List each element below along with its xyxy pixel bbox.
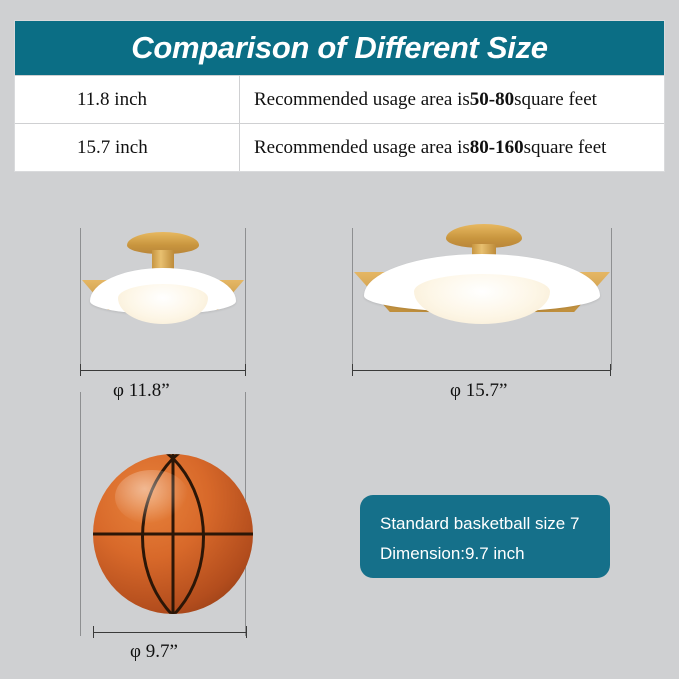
- lamp-small-illustration: [80, 228, 246, 338]
- dimension-tick-left-large: [352, 364, 353, 376]
- product-size-diagram: φ 11.8” φ 15.7” φ 9.7” Standard basketba…: [0, 0, 679, 679]
- dimension-label-large-lamp: φ 15.7”: [450, 380, 507, 402]
- lamp-large-illustration: [352, 222, 612, 342]
- lamp-large-diffuser: [414, 274, 550, 324]
- dimension-label-small-lamp: φ 11.8”: [113, 380, 170, 402]
- dimension-tick-right-large: [610, 364, 611, 376]
- dimension-line-large: [352, 370, 611, 371]
- callout-line-1: Standard basketball size 7: [380, 509, 590, 539]
- guide-line-left-ball: [80, 392, 81, 636]
- dimension-tick-right-small: [245, 364, 246, 376]
- dimension-line-ball: [93, 632, 247, 633]
- dimension-tick-right-ball: [246, 626, 247, 638]
- dimension-tick-left-small: [80, 364, 81, 376]
- callout-box: Standard basketball size 7 Dimension:9.7…: [360, 495, 610, 578]
- dimension-tick-left-ball: [93, 626, 94, 638]
- callout-line-2: Dimension:9.7 inch: [380, 539, 590, 569]
- basketball-highlight: [115, 470, 189, 524]
- dimension-label-basketball: φ 9.7”: [130, 641, 178, 663]
- dimension-line-small: [80, 370, 246, 371]
- basketball-illustration: [93, 454, 253, 614]
- lamp-small-diffuser: [118, 284, 208, 324]
